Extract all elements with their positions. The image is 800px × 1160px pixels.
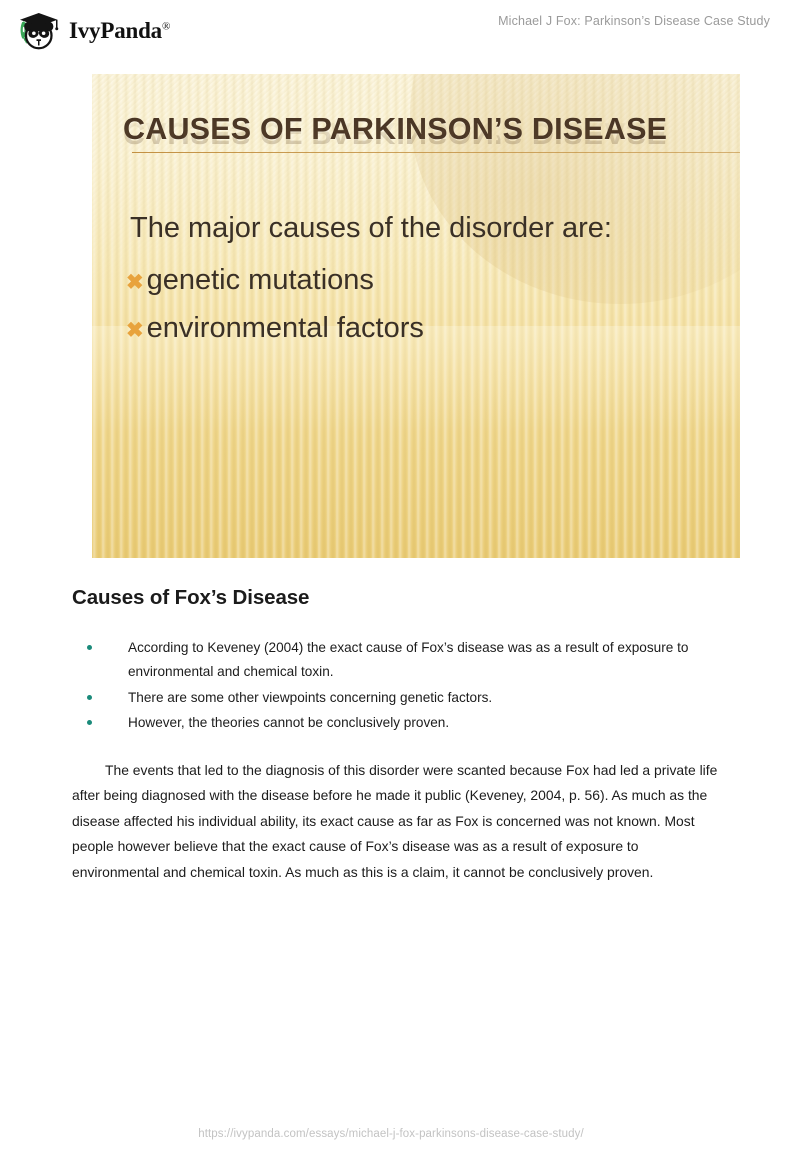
slide-title-block: CAUSES OF PARKINSON’S DISEASE CAUSES OF … xyxy=(123,114,740,192)
list-item: According to Keveney (2004) the exact ca… xyxy=(72,636,728,685)
slide-title: CAUSES OF PARKINSON’S DISEASE xyxy=(123,114,740,145)
document-bullet-list: According to Keveney (2004) the exact ca… xyxy=(72,636,728,736)
list-item-text: According to Keveney (2004) the exact ca… xyxy=(128,640,688,679)
slide-lead-text: The major causes of the disorder are: xyxy=(130,208,714,248)
bullet-dot-icon xyxy=(87,720,92,725)
x-bullet-icon: ✖ xyxy=(126,320,144,341)
slide-bullet-label: genetic mutations xyxy=(147,262,374,298)
brand-name: IvyPanda® xyxy=(69,18,170,44)
list-item: There are some other viewpoints concerni… xyxy=(72,686,728,710)
bullet-dot-icon xyxy=(87,695,92,700)
brand-name-text: IvyPanda xyxy=(69,18,162,43)
bullet-dot-icon xyxy=(87,645,92,650)
slide-bullet-list: ✖ genetic mutations ✖ environmental fact… xyxy=(126,262,714,347)
page-header: IvyPanda® Michael J Fox: Parkinson’s Dis… xyxy=(0,0,800,62)
list-item: However, the theories cannot be conclusi… xyxy=(72,711,728,735)
registered-mark: ® xyxy=(162,20,170,32)
document-title-header: Michael J Fox: Parkinson’s Disease Case … xyxy=(498,14,770,28)
presentation-slide-image: CAUSES OF PARKINSON’S DISEASE CAUSES OF … xyxy=(92,74,740,558)
panda-graduate-logo-icon xyxy=(14,8,62,54)
slide-body: The major causes of the disorder are: ✖ … xyxy=(126,208,714,359)
x-bullet-icon: ✖ xyxy=(126,272,144,293)
slide-content: CAUSES OF PARKINSON’S DISEASE CAUSES OF … xyxy=(92,74,740,558)
body-paragraph: The events that led to the diagnosis of … xyxy=(72,758,728,885)
list-item-text: There are some other viewpoints concerni… xyxy=(128,690,492,705)
list-item-text: However, the theories cannot be conclusi… xyxy=(128,715,449,730)
slide-bullet-item: ✖ environmental factors xyxy=(126,310,714,346)
slide-bullet-label: environmental factors xyxy=(147,310,424,346)
slide-title-rule xyxy=(132,152,740,153)
brand-logo[interactable]: IvyPanda® xyxy=(14,8,170,54)
section-heading: Causes of Fox’s Disease xyxy=(72,586,728,610)
source-url[interactable]: https://ivypanda.com/essays/michael-j-fo… xyxy=(198,1128,584,1140)
slide-bullet-item: ✖ genetic mutations xyxy=(126,262,714,298)
document-body: Causes of Fox’s Disease According to Kev… xyxy=(72,586,728,885)
page-footer: https://ivypanda.com/essays/michael-j-fo… xyxy=(0,1124,800,1142)
